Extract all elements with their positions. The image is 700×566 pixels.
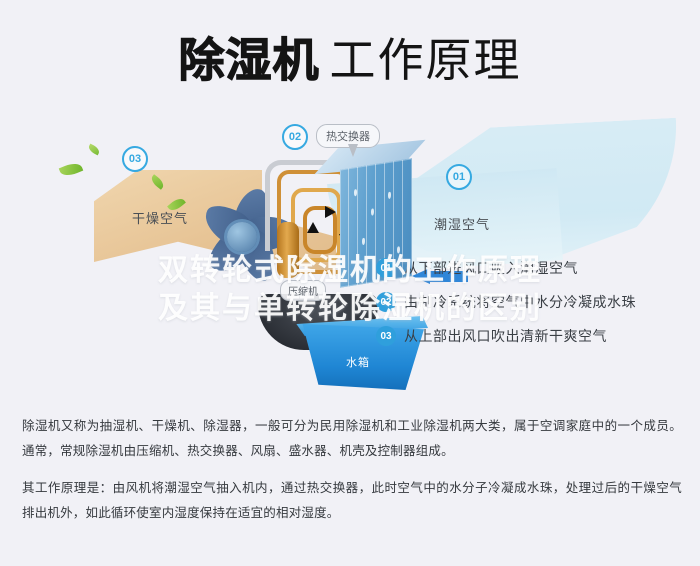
dry-air-label: 干燥空气 xyxy=(132,208,188,227)
step-text-02: 由制冷系统将空气中水分冷凝成水珠 xyxy=(404,292,636,312)
step-text-03: 从上部出风口吹出清新干爽空气 xyxy=(404,326,607,346)
diagram-marker-03: 03 xyxy=(122,146,148,172)
step-badge-01: 01 xyxy=(376,258,396,278)
process-step-list: 01 从下部进风口吸入潮湿空气 02 由制冷系统将空气中水分冷凝成水珠 03 从… xyxy=(376,258,686,360)
humid-air-label: 潮湿空气 xyxy=(434,214,490,233)
infographic-page: 除湿机工作原理 xyxy=(0,0,700,566)
step-badge-02: 02 xyxy=(376,292,396,312)
step-text-01: 从下部进风口吸入潮湿空气 xyxy=(404,258,578,278)
page-title-secondary: 工作原理 xyxy=(330,34,522,86)
flow-arrow-right-icon xyxy=(325,206,336,218)
page-title: 除湿机工作原理 xyxy=(0,24,700,90)
heat-exchanger-callout-tail xyxy=(348,144,358,157)
compressor-callout: 压缩机 xyxy=(280,280,326,301)
diagram-marker-01: 01 xyxy=(446,164,472,190)
diagram-marker-02: 02 xyxy=(282,124,308,150)
list-item: 01 从下部进风口吸入潮湿空气 xyxy=(376,258,686,278)
list-item: 03 从上部出风口吹出清新干爽空气 xyxy=(376,326,686,346)
list-item: 02 由制冷系统将空气中水分冷凝成水珠 xyxy=(376,292,686,312)
page-title-primary: 除湿机 xyxy=(179,34,320,86)
body-paragraph-1: 除湿机又称为抽湿机、干燥机、除湿器，一般可分为民用除湿机和工业除湿机两大类，属于… xyxy=(22,414,682,464)
article-body: 除湿机又称为抽湿机、干燥机、除湿器，一般可分为民用除湿机和工业除湿机两大类，属于… xyxy=(22,414,682,538)
body-paragraph-2: 其工作原理是：由风机将潮湿空气抽入机内，通过热交换器，此时空气中的水分子冷凝成水… xyxy=(22,476,682,526)
step-badge-03: 03 xyxy=(376,326,396,346)
leaf-icon xyxy=(87,144,101,156)
leaf-icon xyxy=(59,160,84,178)
water-tank-label: 水箱 xyxy=(346,354,370,370)
flow-arrow-up-icon xyxy=(307,222,319,233)
